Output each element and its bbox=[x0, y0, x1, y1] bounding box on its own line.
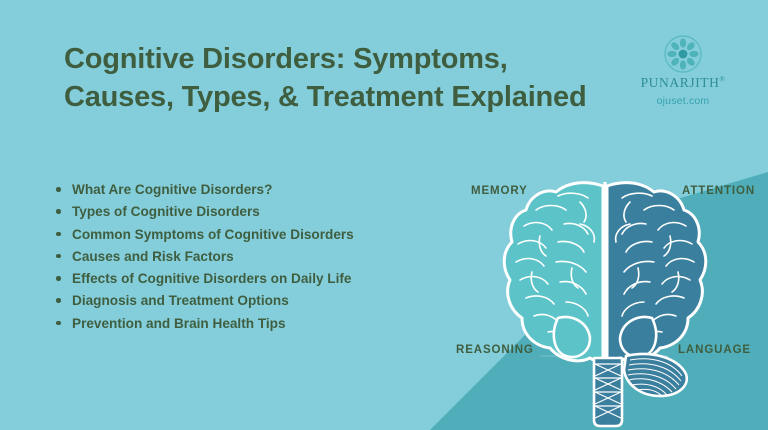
cerebellum bbox=[624, 354, 687, 396]
brain-stem bbox=[594, 358, 622, 426]
list-item[interactable]: Common Symptoms of Cognitive Disorders bbox=[48, 225, 378, 244]
list-item[interactable]: What Are Cognitive Disorders? bbox=[48, 180, 378, 199]
punarjith-mandala-icon bbox=[663, 34, 703, 74]
bullet-dot-icon bbox=[56, 187, 61, 192]
brain-label-memory: MEMORY bbox=[471, 185, 528, 197]
bullet-dot-icon bbox=[56, 232, 61, 237]
list-item-label: Causes and Risk Factors bbox=[72, 249, 234, 264]
brain-label-reasoning: REASONING bbox=[456, 344, 534, 356]
list-item-label: Types of Cognitive Disorders bbox=[72, 204, 260, 219]
blog-banner: PUNARJITH® ojuset.com Cognitive Disorder… bbox=[0, 0, 768, 430]
brain-label-language: LANGUAGE bbox=[678, 344, 751, 356]
list-item[interactable]: Types of Cognitive Disorders bbox=[48, 202, 378, 221]
human-brain-illustration bbox=[440, 168, 768, 430]
logo-trademark-symbol: ® bbox=[719, 76, 725, 84]
logo-website-url[interactable]: ojuset.com bbox=[628, 95, 738, 107]
page-title: Cognitive Disorders: Symptoms, Causes, T… bbox=[64, 40, 624, 117]
brand-logo[interactable]: PUNARJITH® ojuset.com bbox=[628, 34, 738, 107]
bullet-dot-icon bbox=[56, 254, 61, 259]
brain-left-hemisphere bbox=[504, 183, 603, 362]
table-of-contents: What Are Cognitive Disorders? Types of C… bbox=[48, 180, 378, 336]
list-item[interactable]: Causes and Risk Factors bbox=[48, 247, 378, 266]
bullet-dot-icon bbox=[56, 321, 61, 326]
list-item-label: Common Symptoms of Cognitive Disorders bbox=[72, 227, 354, 242]
list-item-label: Effects of Cognitive Disorders on Daily … bbox=[72, 271, 351, 286]
logo-wordmark: PUNARJITH® bbox=[628, 76, 738, 91]
list-item[interactable]: Diagnosis and Treatment Options bbox=[48, 291, 378, 310]
logo-wordmark-text: PUNARJITH bbox=[641, 75, 720, 90]
bullet-dot-icon bbox=[56, 209, 61, 214]
brain-right-hemisphere bbox=[607, 183, 706, 362]
brain-label-attention: ATTENTION bbox=[682, 185, 755, 197]
list-item[interactable]: Prevention and Brain Health Tips bbox=[48, 314, 378, 333]
list-item-label: Prevention and Brain Health Tips bbox=[72, 316, 286, 331]
brain-svg bbox=[440, 168, 768, 430]
list-item-label: What Are Cognitive Disorders? bbox=[72, 182, 272, 197]
list-item[interactable]: Effects of Cognitive Disorders on Daily … bbox=[48, 269, 378, 288]
bullet-dot-icon bbox=[56, 298, 61, 303]
list-item-label: Diagnosis and Treatment Options bbox=[72, 293, 289, 308]
bullet-dot-icon bbox=[56, 276, 61, 281]
